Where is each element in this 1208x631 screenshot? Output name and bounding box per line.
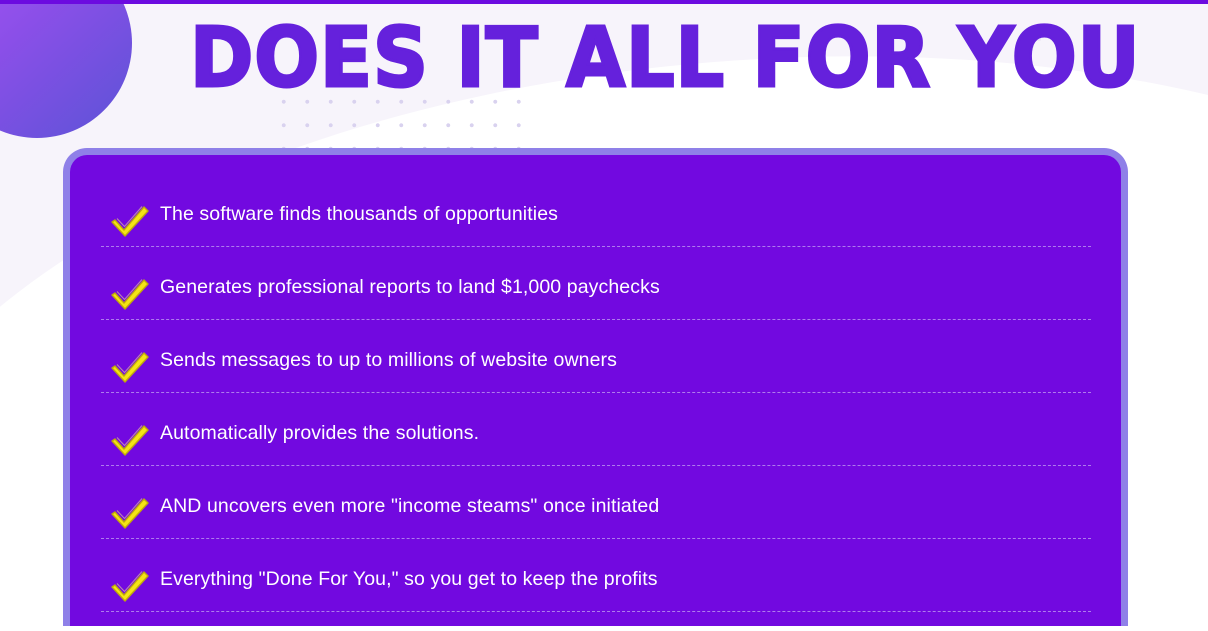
- list-divider: [101, 392, 1091, 393]
- page-headline: DOES IT ALL FOR YOU: [190, 14, 1141, 104]
- list-item: AND uncovers even more "income steams" o…: [70, 480, 1121, 553]
- list-item: The software finds thousands of opportun…: [70, 188, 1121, 261]
- list-item-label: Automatically provides the solutions.: [160, 420, 479, 446]
- list-divider: [101, 465, 1091, 466]
- list-item-label: Everything "Done For You," so you get to…: [160, 566, 658, 592]
- list-item-label: AND uncovers even more "income steams" o…: [160, 493, 659, 519]
- list-divider: [101, 538, 1091, 539]
- page-root: DOES IT ALL FOR YOU The software finds t…: [0, 0, 1208, 631]
- check-icon: [111, 276, 149, 310]
- list-divider: [101, 319, 1091, 320]
- list-item-label: Sends messages to up to millions of webs…: [160, 347, 617, 373]
- check-icon: [111, 422, 149, 456]
- check-icon: [111, 495, 149, 529]
- list-item: Everything "Done For You," so you get to…: [70, 553, 1121, 626]
- benefits-card: The software finds thousands of opportun…: [63, 148, 1128, 626]
- list-item: Generates professional reports to land $…: [70, 261, 1121, 334]
- list-divider: [101, 611, 1091, 612]
- benefits-list: The software finds thousands of opportun…: [70, 155, 1121, 626]
- top-accent-bar: [0, 0, 1208, 4]
- check-icon: [111, 349, 149, 383]
- check-icon: [111, 568, 149, 602]
- check-icon: [111, 203, 149, 237]
- list-divider: [101, 246, 1091, 247]
- list-item: Automatically provides the solutions.: [70, 407, 1121, 480]
- list-item-label: Generates professional reports to land $…: [160, 274, 660, 300]
- list-item: Sends messages to up to millions of webs…: [70, 334, 1121, 407]
- list-item-label: The software finds thousands of opportun…: [160, 201, 558, 227]
